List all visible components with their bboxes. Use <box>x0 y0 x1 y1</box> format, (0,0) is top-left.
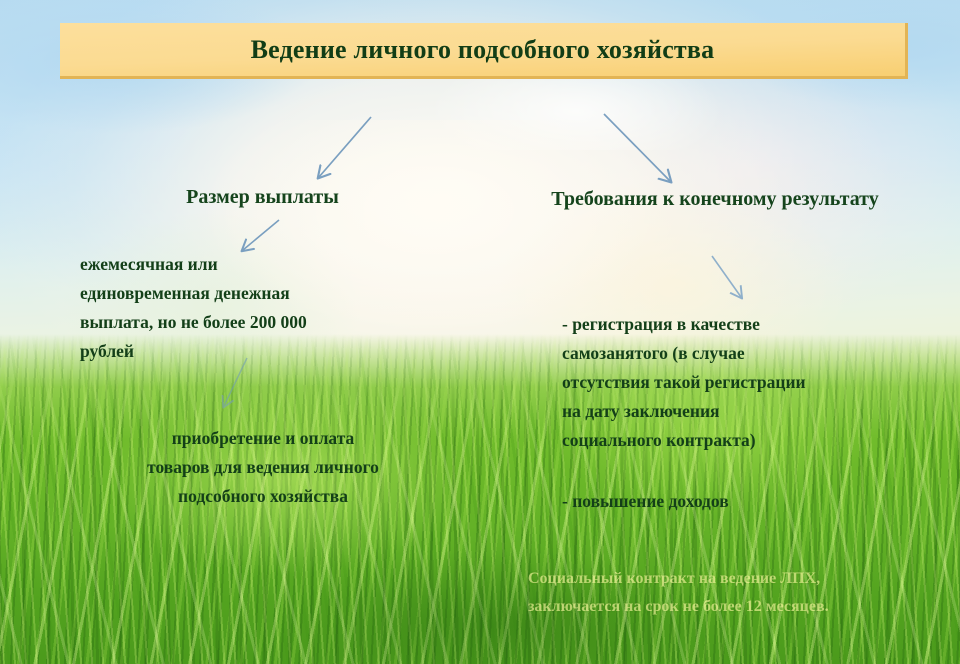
text-line: приобретение и оплата <box>88 424 438 453</box>
right-column-heading: Требования к конечному результату <box>545 186 885 212</box>
footnote-text: Социальный контракт на ведение ЛПХ, закл… <box>528 565 938 621</box>
text-line: - регистрация в качестве <box>562 310 927 339</box>
title-banner: Ведение личного подсобного хозяйства <box>60 23 908 79</box>
text-line: подсобного хозяйства <box>88 482 438 511</box>
page-title: Ведение личного подсобного хозяйства <box>251 35 715 65</box>
text-line: выплата, но не более 200 000 <box>80 308 435 337</box>
left-column-block-1: ежемесячная или единовременная денежная … <box>80 250 435 366</box>
left-column-heading: Размер выплаты <box>120 184 405 210</box>
heading-line: Требования к конечному <box>551 188 776 210</box>
text-line: Социальный контракт на ведение ЛПХ, <box>528 565 938 593</box>
text-line: товаров для ведения личного <box>88 453 438 482</box>
text-line: - повышение доходов <box>562 487 927 516</box>
left-column-block-2: приобретение и оплата товаров для ведени… <box>88 424 438 511</box>
slide-canvas: Ведение личного подсобного хозяйства Раз… <box>0 0 960 664</box>
text-line: заключается на срок не более 12 месяцев. <box>528 593 938 621</box>
text-line: социального контракта) <box>562 426 927 455</box>
text-line: на дату заключения <box>562 397 927 426</box>
heading-line: результату <box>781 188 878 210</box>
text-line: единовременная денежная <box>80 279 435 308</box>
text-line: самозанятого (в случае <box>562 339 927 368</box>
right-column-block-2: - повышение доходов <box>562 487 927 516</box>
text-line: отсутствия такой регистрации <box>562 368 927 397</box>
text-line: ежемесячная или <box>80 250 435 279</box>
text-line: рублей <box>80 337 435 366</box>
right-column-block-1: - регистрация в качестве самозанятого (в… <box>562 310 927 455</box>
